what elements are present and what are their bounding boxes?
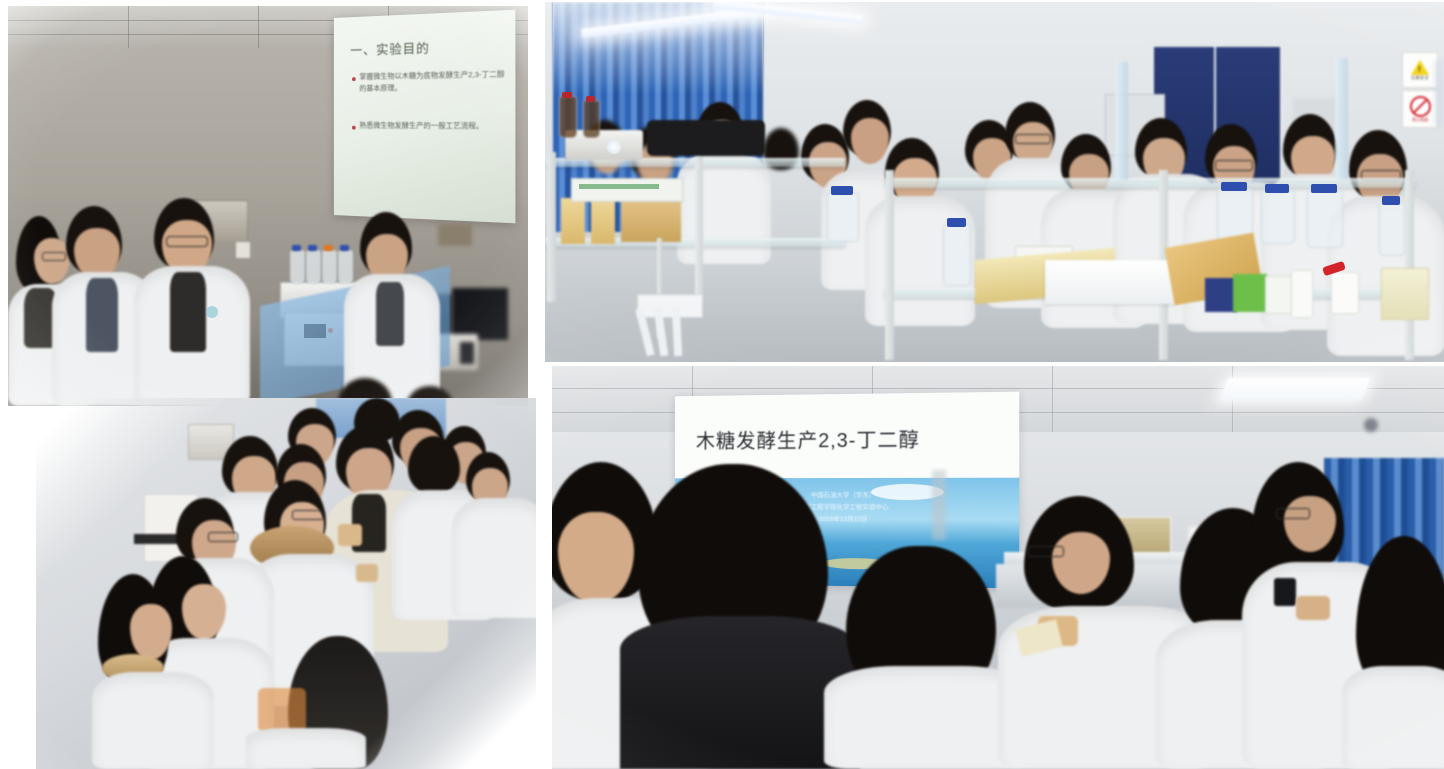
ceiling-dome-camera (1364, 418, 1378, 432)
slide-title: 木糖发酵生产2,3-丁二醇 (696, 423, 994, 454)
bullet-marker-icon (352, 77, 356, 81)
bottle-cap (1221, 182, 1247, 191)
projector-lens-icon (607, 140, 621, 154)
reagent-bottle (1379, 202, 1405, 256)
lab-coat (246, 728, 366, 769)
eyeglasses-icon (1015, 134, 1051, 144)
laptop-bag (647, 120, 765, 156)
eyeglasses-icon (42, 252, 66, 261)
reagent-bottle (827, 192, 859, 242)
eyeglasses-icon (292, 510, 324, 520)
panel-bottom-left (36, 398, 536, 769)
wooden-test-tube-rack (621, 200, 681, 242)
reagent-bottle (1261, 190, 1295, 244)
person-head (408, 436, 460, 494)
panel-bottom-right-photo: 木糖发酵生产2,3-丁二醇 中国石油大学（华东） 化学工程学院化学工程实验中心 … (552, 366, 1444, 769)
orange-garment (258, 688, 306, 732)
ceiling-grid-line (1052, 366, 1053, 432)
lab-coat (92, 672, 214, 769)
wooden-test-tube-rack (591, 198, 615, 244)
solvent-bottle (322, 250, 337, 284)
inner-garment (170, 272, 206, 352)
inner-garment (86, 278, 118, 352)
graduated-cylinder (1115, 62, 1128, 180)
panel-top-left: 一、实验目的 掌握微生物以木糖为底物发酵生产2,3-丁二醇的基本原理。 熟悉微生… (8, 6, 528, 406)
photo-collage: 一、实验目的 掌握微生物以木糖为底物发酵生产2,3-丁二醇的基本原理。 熟悉微生… (0, 0, 1444, 769)
safety-sign-label: 禁止吸烟 (1412, 117, 1428, 123)
screen-edge-post (932, 470, 946, 540)
safety-sign-label: 注意安全 (1411, 75, 1429, 81)
ceiling-light-panel (1220, 378, 1371, 400)
bottle-cap (1311, 184, 1337, 193)
solvent-bottle (290, 250, 305, 284)
cardboard-box (571, 178, 683, 202)
sample-in-hand (338, 524, 362, 546)
supply-box (1233, 274, 1267, 312)
bottle-cap (340, 245, 349, 251)
spray-bottle (1291, 270, 1313, 318)
reagent-kit-box (1381, 268, 1429, 320)
warning-triangle-icon (1411, 60, 1429, 75)
sample-in-hand (356, 564, 378, 582)
eyeglasses-icon (166, 236, 208, 247)
safety-sign-no-smoking: 禁止吸烟 (1402, 90, 1438, 128)
bottle-cap (1382, 196, 1400, 205)
bottle-cap (831, 186, 853, 195)
bottle-cap (324, 245, 333, 251)
pipette-holder (637, 294, 703, 318)
water-bottle (943, 224, 971, 286)
bottle-cap (292, 245, 301, 251)
safety-sign-warning: 注意安全 (1402, 52, 1438, 88)
slide-bullet: 熟悉微生物发酵生产的一般工艺流程。 (359, 120, 507, 132)
panel-bottom-right: 木糖发酵生产2,3-丁二醇 中国石油大学（华东） 化学工程学院化学工程实验中心 … (552, 366, 1444, 769)
supply-box (1265, 276, 1293, 314)
shelf-post (547, 152, 556, 302)
computer-monitor (452, 288, 508, 340)
inner-garment (376, 282, 404, 346)
solvent-bottle (306, 250, 321, 284)
box-label (579, 184, 659, 189)
wash-bottle (1331, 272, 1359, 314)
ceiling-grid-line (128, 6, 129, 48)
panel-bottom-left-photo (36, 398, 536, 769)
wall-outlet (236, 242, 250, 258)
eyeglasses-icon (208, 532, 238, 542)
no-smoking-icon (1410, 96, 1431, 117)
graduated-cylinder (1335, 58, 1348, 180)
bottle-cap (947, 218, 966, 227)
wall-plaque (438, 224, 472, 246)
bullet-marker-icon (352, 126, 356, 130)
wooden-test-tube-rack (561, 198, 585, 244)
shelf-post (885, 170, 894, 360)
panel-top-right-photo: 注意安全 禁止吸烟 (545, 2, 1444, 362)
bottle-cap (586, 96, 595, 102)
eyeglasses-icon (1028, 546, 1064, 557)
projection-screen: 一、实验目的 掌握微生物以木糖为底物发酵生产2,3-丁二醇的基本原理。 熟悉微生… (334, 10, 516, 224)
lab-coat (452, 498, 536, 618)
reagent-bottle (1307, 190, 1343, 248)
smartphone (1274, 578, 1296, 606)
slide-bullet: 掌握微生物以木糖为底物发酵生产2,3-丁二醇的基本原理。 (359, 68, 507, 94)
ceiling-grid-line (258, 6, 259, 48)
bottle-cap (1265, 184, 1289, 193)
open-notebook (1045, 260, 1175, 304)
instrument-panel (460, 342, 474, 364)
shelf-post (1405, 170, 1414, 360)
reagent-bottle (583, 100, 600, 138)
reagent-bottle (559, 96, 577, 138)
hand (1296, 596, 1330, 620)
eyeglasses-icon (1276, 508, 1310, 519)
bottle-cap (562, 92, 572, 98)
adjacent-sign (1434, 60, 1444, 126)
lab-coat (677, 154, 771, 264)
solvent-bottle (338, 250, 353, 284)
eyeglasses-icon (1215, 160, 1253, 171)
lab-coat (1342, 666, 1444, 769)
coat-emblem (206, 306, 218, 318)
panel-top-right: 注意安全 禁止吸烟 (545, 2, 1444, 362)
slide-heading: 一、实验目的 (350, 38, 430, 59)
shelf-post (695, 152, 703, 302)
bottle-cap (308, 245, 317, 251)
panel-top-left-photo: 一、实验目的 掌握微生物以木糖为底物发酵生产2,3-丁二醇的基本原理。 熟悉微生… (8, 6, 528, 406)
